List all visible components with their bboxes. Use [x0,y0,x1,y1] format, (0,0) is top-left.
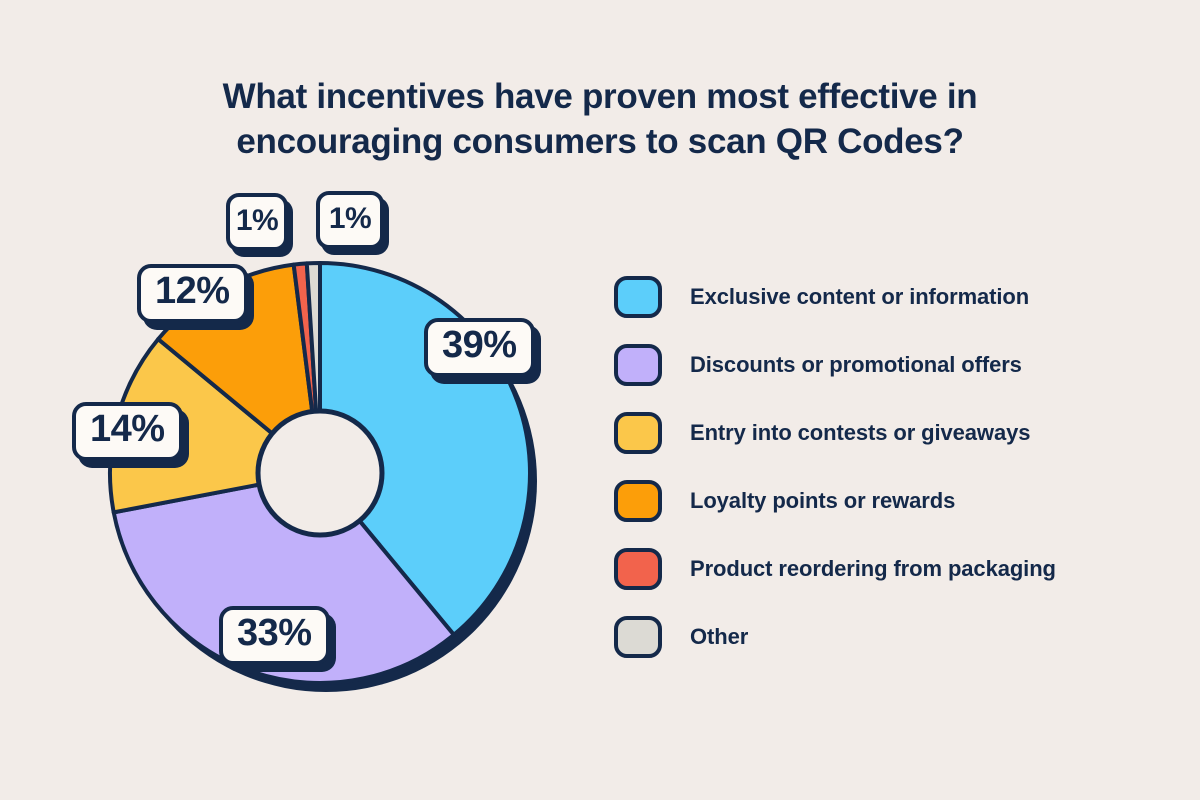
legend-item[interactable]: Loyalty points or rewards [614,480,1056,522]
legend-item-label: Entry into contests or giveaways [690,420,1030,446]
donut-hole [258,411,382,535]
legend-item-label: Loyalty points or rewards [690,488,955,514]
legend-swatch [614,344,662,386]
legend-item-label: Product reordering from packaging [690,556,1056,582]
legend-item[interactable]: Discounts or promotional offers [614,344,1056,386]
slice-label-contests: 14% [72,402,183,461]
slice-label-loyalty: 12% [137,264,248,323]
slice-label-discounts: 33% [219,606,330,665]
legend-swatch [614,548,662,590]
legend-item[interactable]: Exclusive content or information [614,276,1056,318]
slice-label-other: 1% [316,191,384,249]
chart-legend: Exclusive content or informationDiscount… [614,276,1056,658]
legend-item[interactable]: Product reordering from packaging [614,548,1056,590]
donut-chart: 39% 33% 14% 12% 1% 1% Exclusive content … [0,0,1200,800]
legend-swatch [614,616,662,658]
legend-swatch [614,480,662,522]
legend-swatch [614,412,662,454]
legend-item[interactable]: Entry into contests or giveaways [614,412,1056,454]
legend-item[interactable]: Other [614,616,1056,658]
legend-item-label: Exclusive content or information [690,284,1029,310]
slice-label-reordering: 1% [226,193,288,251]
legend-item-label: Discounts or promotional offers [690,352,1022,378]
slice-label-exclusive: 39% [424,318,535,377]
legend-item-label: Other [690,624,748,650]
legend-swatch [614,276,662,318]
